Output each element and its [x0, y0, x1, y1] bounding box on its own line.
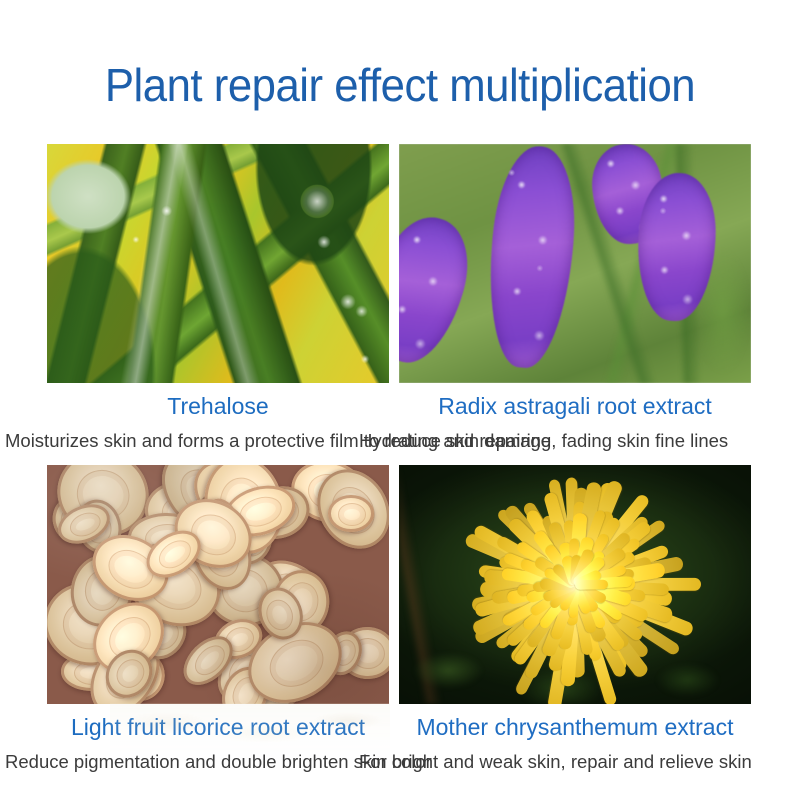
ingredient-card-licorice[interactable]: Light fruit licorice root extract Reduce… [47, 465, 389, 744]
ingredients-grid: Trehalose Moisturizes skin and forms a p… [0, 144, 800, 786]
ingredient-image-chrysanthemum [399, 465, 751, 704]
ingredient-name: Radix astragali root extract [399, 389, 751, 423]
ingredient-name: Light fruit licorice root extract [47, 710, 389, 744]
ingredient-image-trehalose [47, 144, 389, 383]
water-droplets-layer [47, 144, 389, 383]
ingredient-row-2: Light fruit licorice root extract Reduce… [0, 465, 800, 786]
ingredient-name: Trehalose [47, 389, 389, 423]
ingredient-description: Hydrating and repairing, fading skin fin… [359, 429, 728, 453]
ingredient-card-radix-astragali[interactable]: Radix astragali root extract Hydrating a… [399, 144, 751, 423]
licorice-slices-layer [47, 465, 389, 704]
licorice-slice [328, 495, 374, 532]
ingredient-card-trehalose[interactable]: Trehalose Moisturizes skin and forms a p… [47, 144, 389, 423]
ingredient-card-chrysanthemum[interactable]: Mother chrysanthemum extract For bright … [399, 465, 751, 744]
ingredient-image-licorice [47, 465, 389, 704]
page-title: Plant repair effect multiplication [20, 57, 780, 115]
ingredient-row-1: Trehalose Moisturizes skin and forms a p… [0, 144, 800, 465]
ingredient-name: Mother chrysanthemum extract [399, 710, 751, 744]
mum-petal [575, 579, 608, 589]
ingredient-image-radix-astragali [399, 144, 751, 383]
ingredient-description: For bright and weak skin, repair and rel… [359, 750, 752, 774]
